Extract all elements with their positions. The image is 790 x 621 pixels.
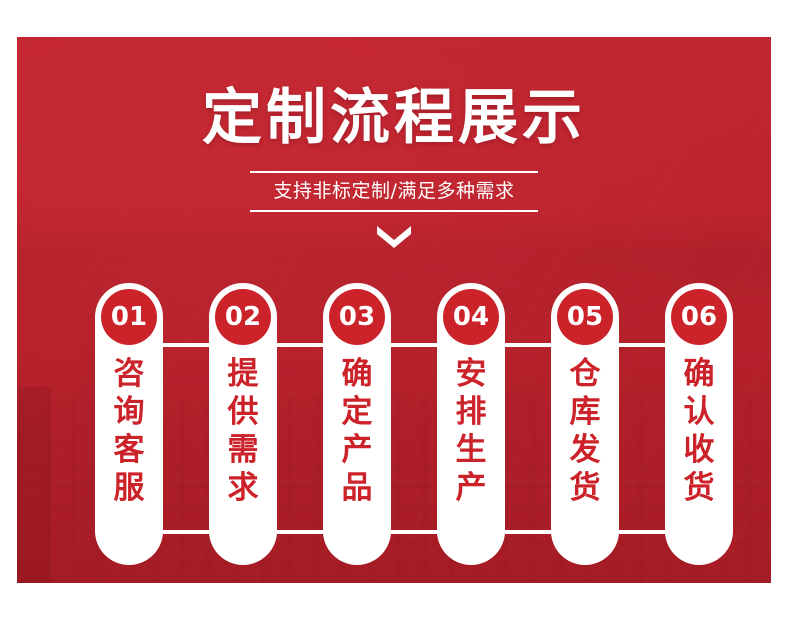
- subtitle-rule-block: 支持非标定制/满足多种需求: [250, 171, 538, 212]
- promo-banner-page: 定制流程展示 支持非标定制/满足多种需求 01 咨询: [0, 0, 790, 621]
- step-number-badge: 04: [443, 289, 499, 345]
- step-label-char: 供: [209, 393, 277, 431]
- step-label: 提供需求: [209, 355, 277, 507]
- step-number-badge: 06: [671, 289, 727, 345]
- step-label-char: 产: [437, 469, 505, 507]
- step-label-char: 需: [209, 431, 277, 469]
- step-label-char: 库: [551, 393, 619, 431]
- step-label-char: 确: [323, 355, 391, 393]
- step-number-badge: 02: [215, 289, 271, 345]
- page-subtitle: 支持非标定制/满足多种需求: [250, 179, 538, 203]
- step-label-char: 询: [95, 393, 163, 431]
- process-step-02[interactable]: 02 提供需求: [209, 283, 277, 565]
- step-label-char: 品: [323, 469, 391, 507]
- red-banner-panel: 定制流程展示 支持非标定制/满足多种需求 01 咨询: [17, 37, 771, 583]
- process-step-01[interactable]: 01 咨询客服: [95, 283, 163, 565]
- step-number-badge: 05: [557, 289, 613, 345]
- step-label-char: 服: [95, 469, 163, 507]
- step-label-char: 求: [209, 469, 277, 507]
- process-step-03[interactable]: 03 确定产品: [323, 283, 391, 565]
- chevron-down-icon: [377, 226, 411, 248]
- process-step-04[interactable]: 04 安排生产: [437, 283, 505, 565]
- process-steps-row: 01 咨询客服 02 提供需求 03 确定产品 04 安排生产 05 仓库发货 …: [17, 283, 771, 538]
- step-label-char: 提: [209, 355, 277, 393]
- step-label-char: 排: [437, 393, 505, 431]
- step-label: 咨询客服: [95, 355, 163, 507]
- banner-header: 定制流程展示 支持非标定制/满足多种需求: [17, 37, 771, 248]
- step-label-char: 客: [95, 431, 163, 469]
- step-label-char: 生: [437, 431, 505, 469]
- step-label: 确定产品: [323, 355, 391, 507]
- step-label-char: 咨: [95, 355, 163, 393]
- step-label-char: 安: [437, 355, 505, 393]
- step-label-char: 货: [665, 469, 733, 507]
- step-label: 安排生产: [437, 355, 505, 507]
- step-label-char: 确: [665, 355, 733, 393]
- step-label: 仓库发货: [551, 355, 619, 507]
- step-number-badge: 01: [101, 289, 157, 345]
- process-step-06[interactable]: 06 确认收货: [665, 283, 733, 565]
- step-label-char: 发: [551, 431, 619, 469]
- page-title: 定制流程展示: [17, 37, 771, 151]
- process-step-05[interactable]: 05 仓库发货: [551, 283, 619, 565]
- step-label-char: 产: [323, 431, 391, 469]
- step-label-char: 货: [551, 469, 619, 507]
- step-label-char: 收: [665, 431, 733, 469]
- step-label-char: 定: [323, 393, 391, 431]
- step-label-char: 认: [665, 393, 733, 431]
- step-number-badge: 03: [329, 289, 385, 345]
- step-label: 确认收货: [665, 355, 733, 507]
- step-label-char: 仓: [551, 355, 619, 393]
